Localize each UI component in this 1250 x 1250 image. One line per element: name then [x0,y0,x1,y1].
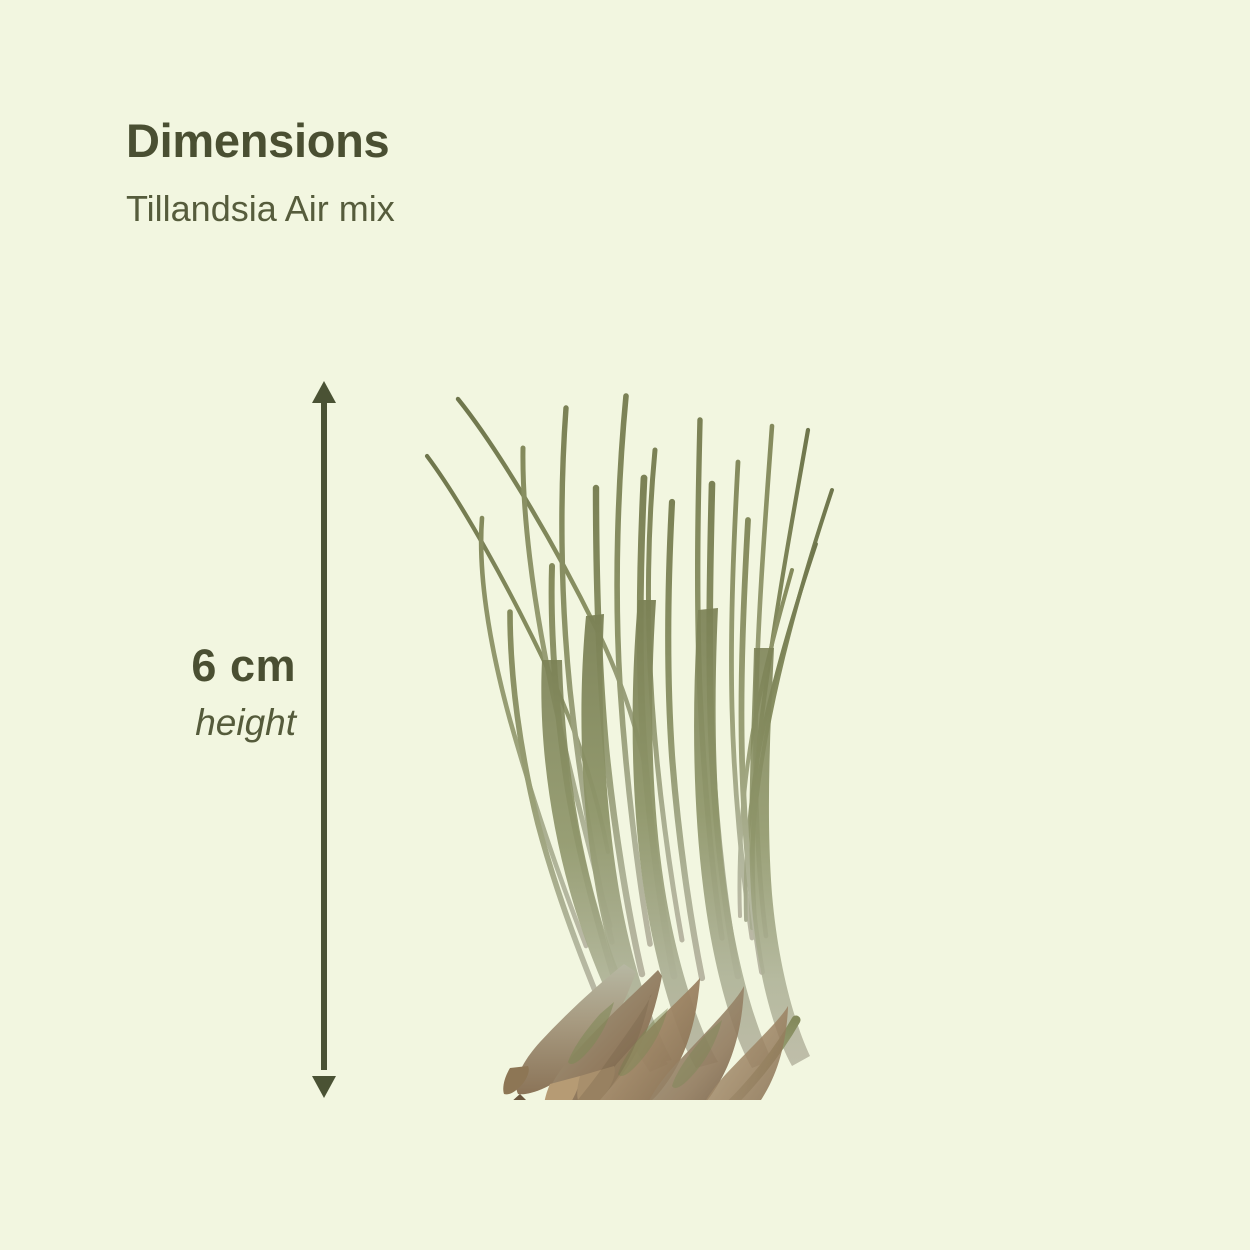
arrow-down-icon [312,1076,336,1098]
page-subtitle: Tillandsia Air mix [126,166,826,229]
dimensions-card: Dimensions Tillandsia Air mix 6 cm heigh… [0,0,1250,1250]
arrow-up-icon [312,381,336,403]
arrow-shaft [321,400,327,1070]
measurement-label: 6 cm height [0,643,296,741]
tillandsia-air-plant [400,360,880,1100]
measurement-value: 6 cm [0,643,296,688]
page-title: Dimensions [126,116,826,166]
measurement-caption: height [0,688,296,741]
header-block: Dimensions Tillandsia Air mix [126,116,826,228]
height-dimension-arrow [298,370,350,1110]
